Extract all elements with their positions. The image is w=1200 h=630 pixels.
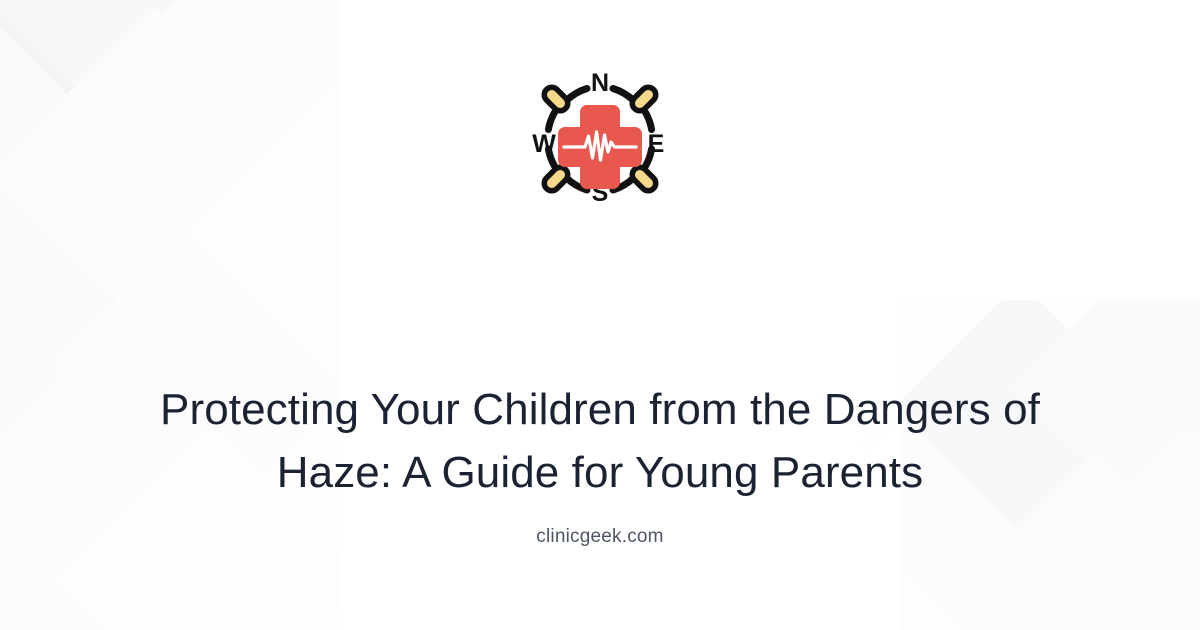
site-domain: clinicgeek.com (536, 526, 663, 548)
compass-letter-north: N (591, 72, 609, 97)
site-logo: N E S W (525, 72, 675, 206)
headline-block: Protecting Your Children from the Danger… (70, 378, 1130, 504)
medical-cross-icon (558, 105, 642, 189)
compass-letter-east: E (648, 130, 665, 158)
compass-medical-logo-icon: N E S W (525, 72, 675, 206)
page-title: Protecting Your Children from the Danger… (70, 378, 1130, 504)
og-card: N E S W Protecting Your Children from th… (0, 0, 1200, 630)
compass-letter-west: W (532, 130, 556, 158)
